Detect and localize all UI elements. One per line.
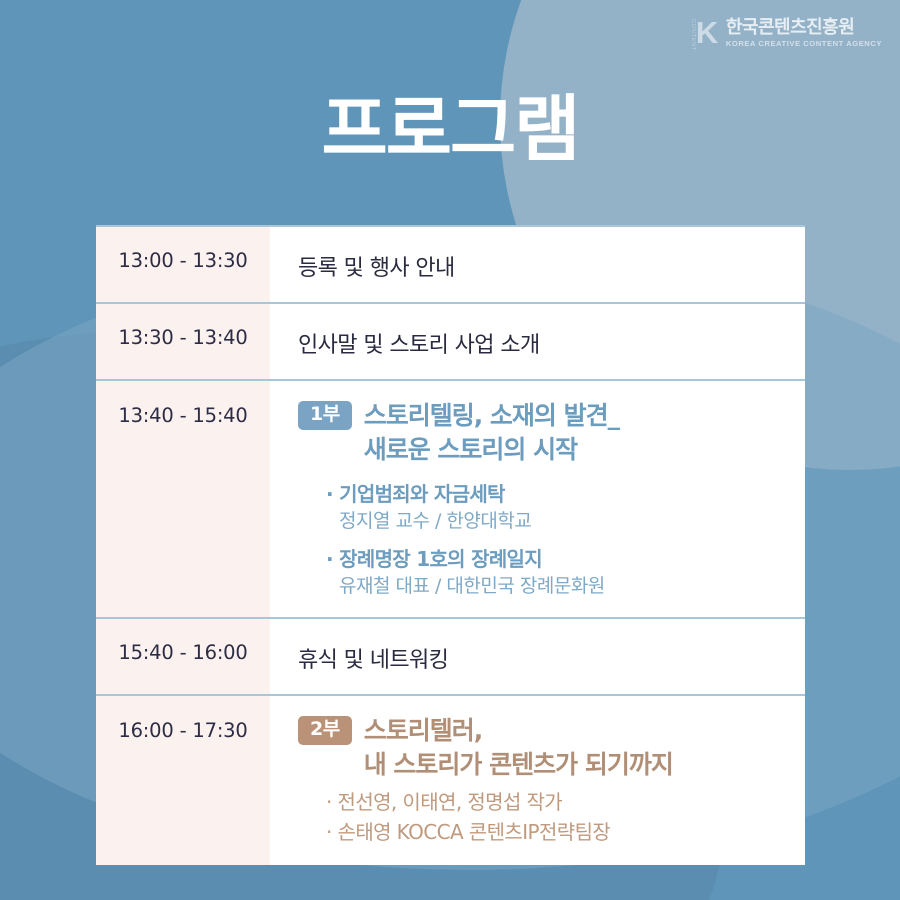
table-row: 15:40 - 16:00 휴식 및 네트워킹 (96, 619, 805, 696)
kocca-logo-english-name: KOREA CREATIVE CONTENT AGENCY (726, 40, 882, 48)
row-title: 휴식 및 네트워킹 (298, 638, 805, 674)
list-item: · 기업범죄와 자금세탁 정지열 교수 / 한양대학교 (326, 480, 805, 535)
talk-title: · 기업범죄와 자금세탁 (326, 480, 805, 508)
kocca-logo: CONTENT K 한국콘텐츠진흥원 KOREA CREATIVE CONTEN… (689, 18, 882, 48)
session-title-line-2: 내 스토리가 콘텐츠가 되기까지 (364, 748, 673, 782)
kocca-logo-letter: K (696, 18, 718, 48)
talk-speaker: 정지열 교수 / 한양대학교 (326, 508, 805, 535)
part-badge: 2부 (298, 716, 352, 745)
session-header: 2부 스토리텔러, 내 스토리가 콘텐츠가 되기까지 (298, 714, 805, 781)
kocca-logo-wordmark: 한국콘텐츠진흥원 KOREA CREATIVE CONTENT AGENCY (726, 19, 882, 48)
row-time: 13:00 - 13:30 (96, 227, 270, 302)
program-poster: CONTENT K 한국콘텐츠진흥원 KOREA CREATIVE CONTEN… (0, 0, 900, 900)
session-title-line-1: 스토리텔링, 소재의 발견_ (364, 399, 619, 433)
table-row: 13:30 - 13:40 인사말 및 스토리 사업 소개 (96, 304, 805, 381)
row-time: 15:40 - 16:00 (96, 619, 270, 694)
row-body: 1부 스토리텔링, 소재의 발견_ 새로운 스토리의 시작 · 기업범죄와 자금… (270, 381, 805, 617)
part-badge: 1부 (298, 401, 352, 430)
talk-title-text: 기업범죄와 자금세탁 (339, 482, 505, 506)
session-title: 스토리텔러, 내 스토리가 콘텐츠가 되기까지 (364, 714, 673, 781)
list-item: · 전선영, 이태연, 정명섭 작가 (326, 787, 805, 817)
page-title: 프로그램 (0, 70, 900, 175)
talk-title-text: 장례명장 1호의 장례일지 (339, 547, 542, 571)
row-body: 등록 및 행사 안내 (270, 227, 805, 302)
row-time: 16:00 - 17:30 (96, 696, 270, 865)
list-item: · 손태영 KOCCA 콘텐츠IP전략팀장 (326, 817, 805, 847)
session-title-line-2: 새로운 스토리의 시작 (364, 433, 619, 467)
talk-speaker: 유재철 대표 / 대한민국 장례문화원 (326, 573, 805, 600)
row-time: 13:40 - 15:40 (96, 381, 270, 617)
session-title: 스토리텔링, 소재의 발견_ 새로운 스토리의 시작 (364, 399, 619, 466)
row-title: 등록 및 행사 안내 (298, 246, 805, 282)
talk-bullet: · (326, 547, 333, 571)
kocca-logo-mark-icon: CONTENT K (689, 18, 719, 48)
table-row: 16:00 - 17:30 2부 스토리텔러, 내 스토리가 콘텐츠가 되기까지… (96, 696, 805, 865)
session-header: 1부 스토리텔링, 소재의 발견_ 새로운 스토리의 시작 (298, 399, 805, 466)
kocca-logo-korean-name: 한국콘텐츠진흥원 (726, 19, 882, 37)
talk-list: · 전선영, 이태연, 정명섭 작가 · 손태영 KOCCA 콘텐츠IP전략팀장 (298, 787, 805, 847)
talk-bullet: · (326, 482, 333, 506)
list-item: · 장례명장 1호의 장례일지 유재철 대표 / 대한민국 장례문화원 (326, 545, 805, 600)
row-body: 인사말 및 스토리 사업 소개 (270, 304, 805, 379)
row-body: 휴식 및 네트워킹 (270, 619, 805, 694)
schedule-table: 13:00 - 13:30 등록 및 행사 안내 13:30 - 13:40 인… (96, 225, 805, 865)
table-row: 13:00 - 13:30 등록 및 행사 안내 (96, 227, 805, 304)
row-time: 13:30 - 13:40 (96, 304, 270, 379)
session-title-line-1: 스토리텔러, (364, 714, 673, 748)
row-title: 인사말 및 스토리 사업 소개 (298, 323, 805, 359)
talk-list: · 기업범죄와 자금세탁 정지열 교수 / 한양대학교 · 장례명장 1호의 장… (298, 480, 805, 599)
talk-title: · 장례명장 1호의 장례일지 (326, 545, 805, 573)
row-body: 2부 스토리텔러, 내 스토리가 콘텐츠가 되기까지 · 전선영, 이태연, 정… (270, 696, 805, 865)
table-row: 13:40 - 15:40 1부 스토리텔링, 소재의 발견_ 새로운 스토리의… (96, 381, 805, 619)
